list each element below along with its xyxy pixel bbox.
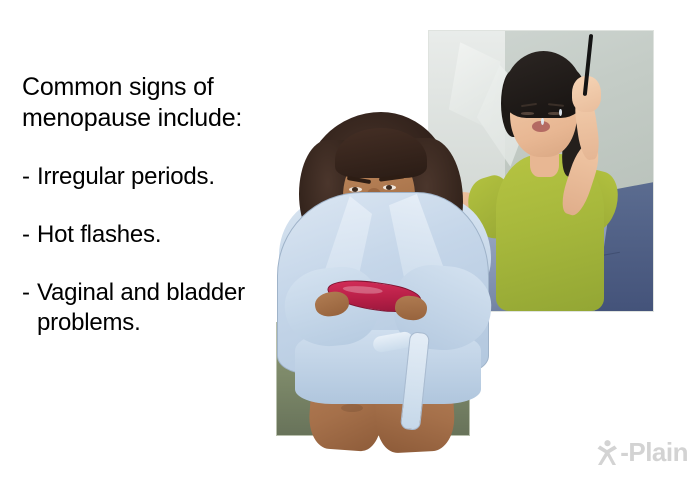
logo-text: -Plain: [620, 437, 688, 468]
seated-woman: [255, 0, 515, 480]
slide-canvas: Common signs of menopause include: - Irr…: [0, 0, 700, 480]
list-item: - Hot flashes.: [22, 220, 292, 250]
text-content: Common signs of menopause include: - Irr…: [22, 72, 292, 366]
x-plain-logo: -Plain: [595, 437, 688, 468]
eye-right: [383, 185, 396, 190]
illustration: [255, 0, 700, 480]
bullet-marker: -: [22, 278, 37, 338]
x-plain-figure-icon: [595, 439, 619, 467]
signs-list: - Irregular periods. - Hot flashes. - Va…: [22, 162, 292, 338]
bullet-text: Irregular periods.: [37, 162, 292, 192]
sweat-drop: [541, 118, 544, 125]
leg-shadow: [341, 404, 363, 412]
bullet-marker: -: [22, 220, 37, 250]
page-title: Common signs of menopause include:: [22, 72, 292, 134]
list-item: - Vaginal and bladder problems.: [22, 278, 292, 338]
bullet-marker: -: [22, 162, 37, 192]
bullet-text: Vaginal and bladder problems.: [37, 278, 292, 338]
bullet-text: Hot flashes.: [37, 220, 292, 250]
list-item: - Irregular periods.: [22, 162, 292, 192]
